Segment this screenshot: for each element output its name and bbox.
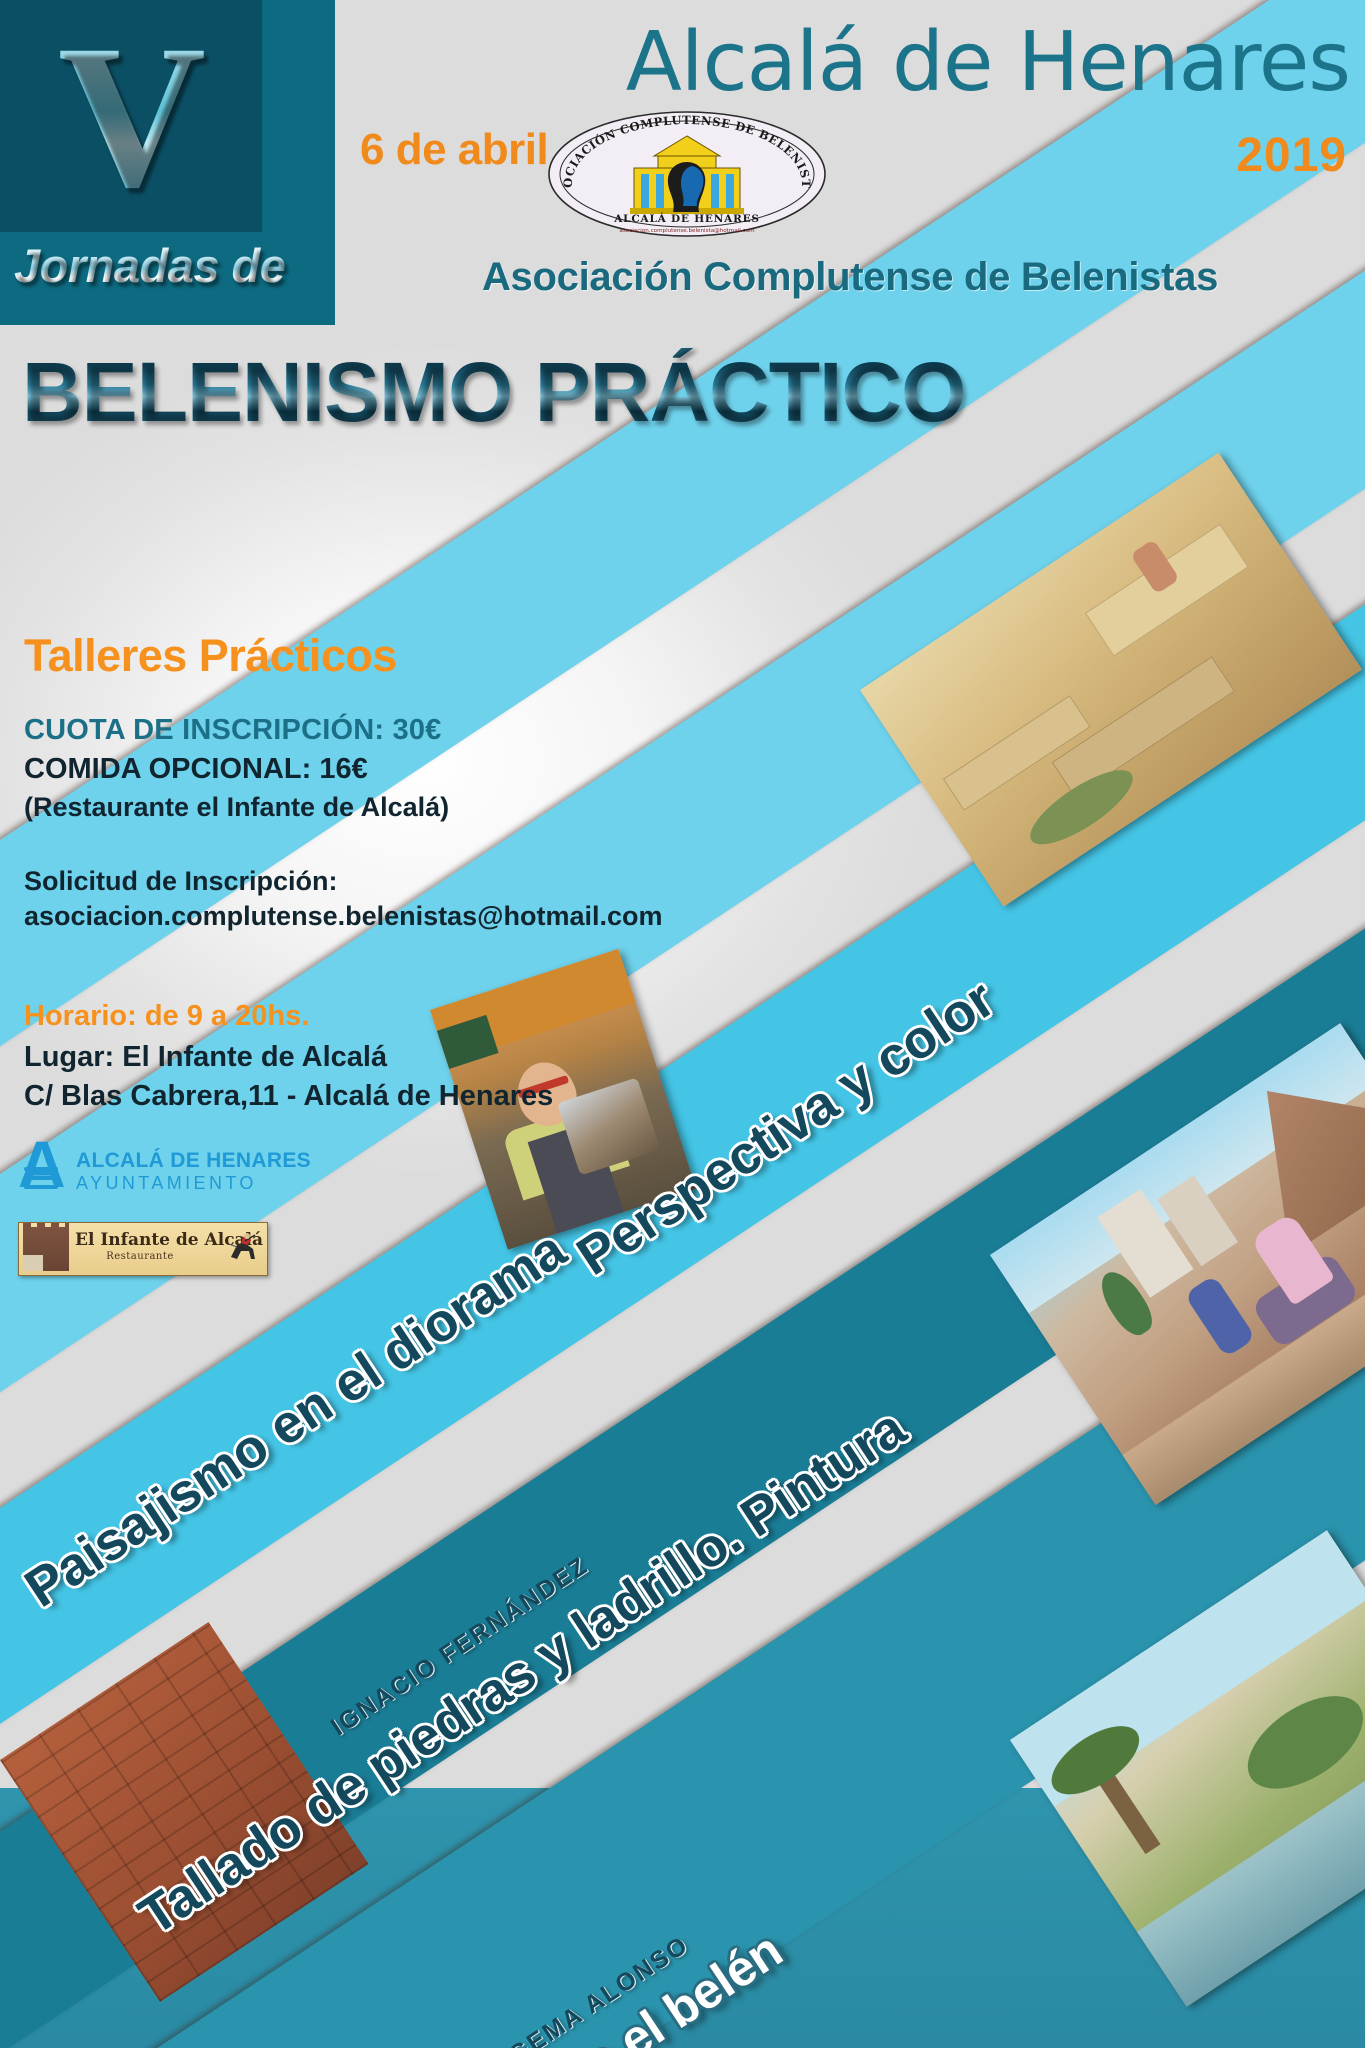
registration-fee: CUOTA DE INSCRIPCIÓN: 30€ <box>24 714 442 747</box>
knight-on-horse-icon <box>225 1229 261 1267</box>
event-year: 2019 <box>1236 128 1347 183</box>
schedule-text: Horario: de 9 a 20hs. <box>24 1000 309 1033</box>
optional-meal-fee: COMIDA OPCIONAL: 16€ <box>24 753 368 786</box>
svg-text:ALCALÁ DE HENARES: ALCALÁ DE HENARES <box>613 211 760 225</box>
restaurant-name: El Infante de Alcalá <box>75 1230 205 1250</box>
association-seal-logo: ASOCIACIÓN COMPLUTENSE DE BELENISTAS ALC… <box>546 110 828 238</box>
restaurant-logo: El Infante de Alcalá Restaurante <box>18 1222 268 1276</box>
ayuntamiento-line1: ALCALÁ DE HENARES <box>76 1149 311 1173</box>
signup-label: Solicitud de Inscripción: <box>24 866 338 897</box>
poster: Perspectiva y color Paisajismo en el dio… <box>0 0 1365 2048</box>
page-title: BELENISMO PRÁCTICO <box>22 348 1022 436</box>
city-title: Alcalá de Henares <box>360 22 1350 104</box>
restaurant-subtitle: Restaurante <box>75 1251 205 1262</box>
event-date: 6 de abril <box>360 125 548 175</box>
jornadas-label: Jornadas de <box>14 238 334 293</box>
svg-text:asociacion.complutense.belenis: asociacion.complutense.belenista@hotmail… <box>619 228 754 234</box>
address-text: C/ Blas Cabrera,11 - Alcalá de Henares <box>24 1080 553 1113</box>
meal-venue: (Restaurante el Infante de Alcalá) <box>24 792 449 823</box>
ayuntamiento-logo: A ALCALÁ DE HENARES AYUNTAMIENTO <box>18 1135 268 1197</box>
workshops-heading: Talleres Prácticos <box>24 630 397 682</box>
signup-email[interactable]: asociacion.complutense.belenistas@hotmai… <box>24 901 663 932</box>
venue-text: Lugar: El Infante de Alcalá <box>24 1041 387 1074</box>
edition-numeral: V <box>0 2 262 230</box>
tower-icon <box>23 1227 69 1271</box>
association-name: Asociación Complutense de Belenistas <box>350 255 1350 300</box>
ayuntamiento-line2: AYUNTAMIENTO <box>76 1173 257 1194</box>
